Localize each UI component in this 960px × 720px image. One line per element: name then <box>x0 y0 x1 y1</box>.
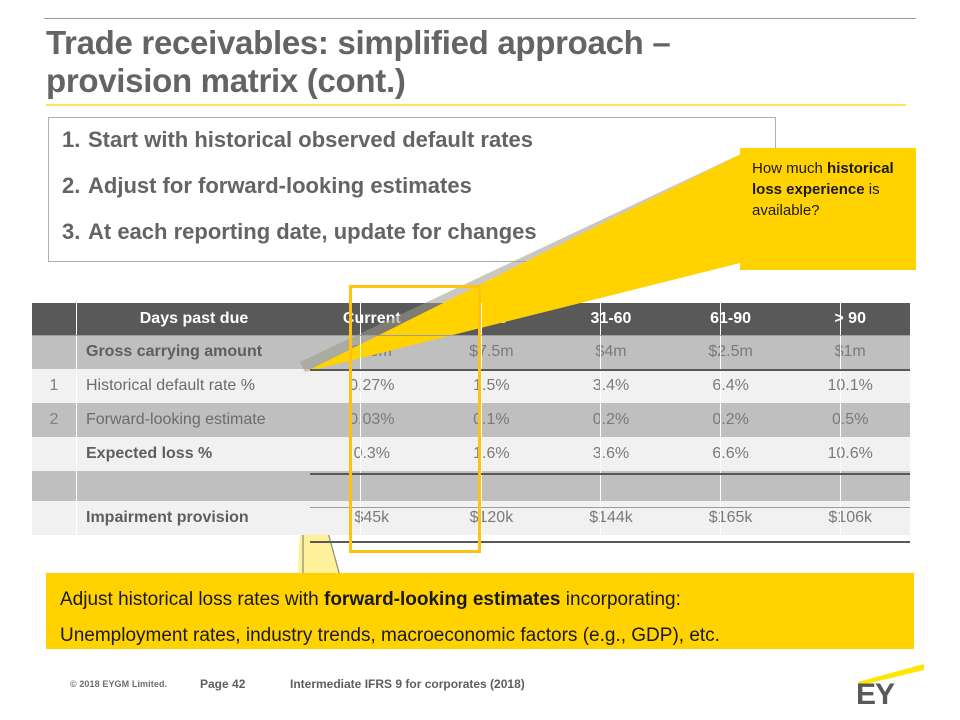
ey-wordmark: EY <box>856 680 894 710</box>
cell-61-90: 6.6% <box>671 437 791 471</box>
column-divider <box>481 303 482 553</box>
cell-61-90: 6.4% <box>671 369 791 403</box>
cell-over-90 <box>790 471 910 501</box>
row-index <box>32 335 76 369</box>
row-label: Gross carrying amount <box>76 335 312 369</box>
top-divider <box>44 18 916 19</box>
callout-historical-loss: How much historical loss experience is a… <box>740 148 916 270</box>
row-label: Expected loss % <box>76 437 312 471</box>
footer-copyright: © 2018 EYGM Limited. <box>70 679 167 689</box>
page-title: Trade receivables: simplified approach –… <box>46 24 746 100</box>
column-divider <box>840 303 841 553</box>
cell-61-90: $2.5m <box>671 335 791 369</box>
callout-bottom-text-bold: forward-looking estimates <box>324 589 561 610</box>
row-index <box>32 437 76 471</box>
row-index <box>32 471 76 501</box>
callout-bottom-text-pre: Adjust historical loss rates with <box>60 589 324 610</box>
column-divider <box>600 303 601 553</box>
callout-bottom-line-1: Adjust historical loss rates with forwar… <box>60 582 900 618</box>
slide-canvas: Trade receivables: simplified approach –… <box>0 0 960 720</box>
column-divider <box>720 303 721 553</box>
row-index: 1 <box>32 369 76 403</box>
header-61-90: 61-90 <box>671 303 791 335</box>
header-index <box>32 303 76 335</box>
header-over-90: > 90 <box>790 303 910 335</box>
ey-logo: EY <box>846 662 938 710</box>
cell-61-90: 0.2% <box>671 403 791 437</box>
cell-over-90: $1m <box>790 335 910 369</box>
header-days-past-due: Days past due <box>76 303 312 335</box>
row-index <box>32 501 76 535</box>
steps-box <box>48 117 776 262</box>
cell-61-90 <box>671 471 791 501</box>
cell-31-60: 0.2% <box>551 403 671 437</box>
row-label: Impairment provision <box>76 501 312 535</box>
cell-31-60: $4m <box>551 335 671 369</box>
cell-31-60: 3.4% <box>551 369 671 403</box>
callout-bottom-text-post: incorporating: <box>561 589 681 610</box>
callout-forward-looking: Adjust historical loss rates with forwar… <box>46 573 914 649</box>
title-underline <box>46 104 906 106</box>
footer-deck-title: Intermediate IFRS 9 for corporates (2018… <box>290 677 525 691</box>
row-label: Historical default rate % <box>76 369 312 403</box>
cell-31-60 <box>551 471 671 501</box>
cell-over-90: 0.5% <box>790 403 910 437</box>
row-label: Forward-looking estimate <box>76 403 312 437</box>
cell-over-90: 10.1% <box>790 369 910 403</box>
current-column-highlight <box>349 285 481 553</box>
cell-31-60: 3.6% <box>551 437 671 471</box>
row-index: 2 <box>32 403 76 437</box>
header-31-60: 31-60 <box>551 303 671 335</box>
cell-over-90: 10.6% <box>790 437 910 471</box>
footer-page-number: Page 42 <box>200 677 245 691</box>
column-divider <box>76 303 77 553</box>
callout-bottom-line-2: Unemployment rates, industry trends, mac… <box>60 618 900 654</box>
row-label <box>76 471 312 501</box>
callout-top-text-1: How much <box>752 160 827 177</box>
